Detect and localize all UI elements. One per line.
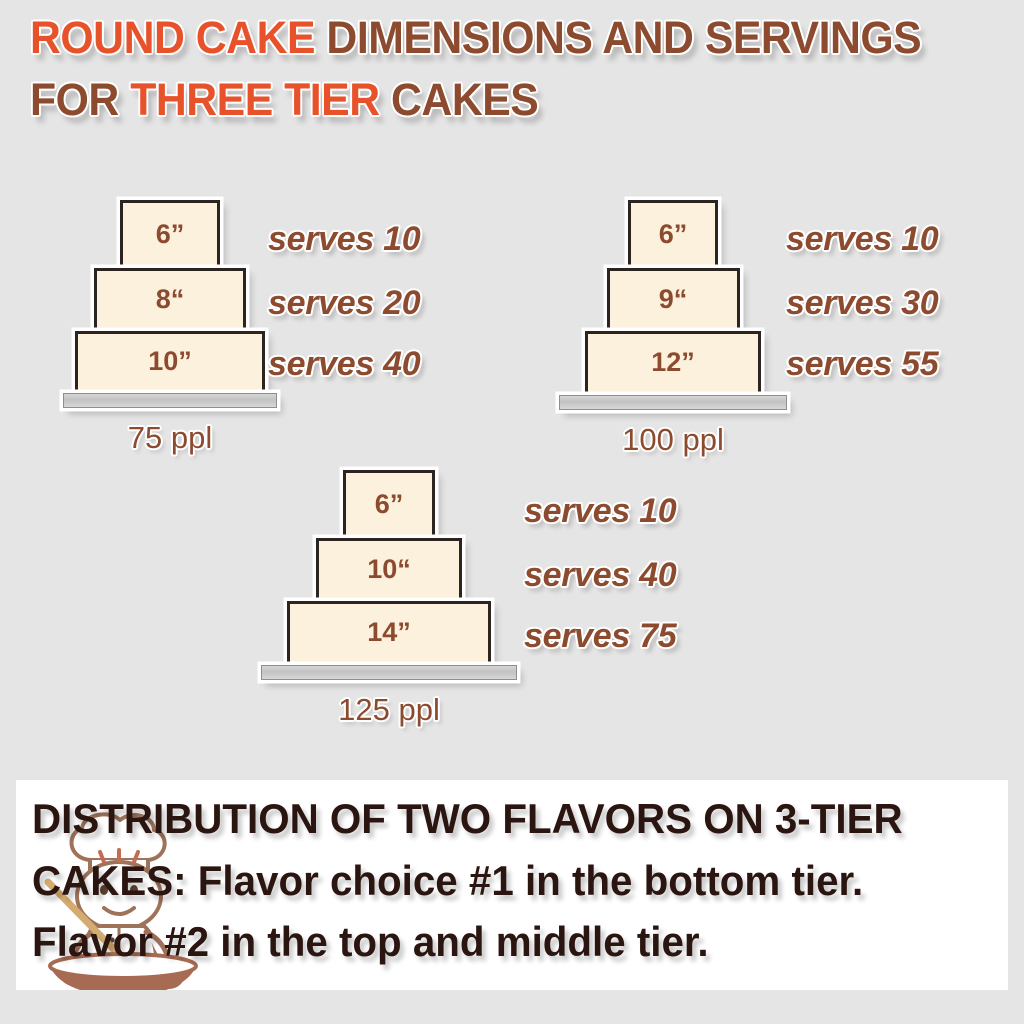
title-line-2: FOR THREE TIER CAKES (30, 74, 961, 126)
cake-diagram-100: 6” 9“ 12” 100 ppl (558, 200, 788, 458)
serves-column-75: serves 10 serves 20 serves 40 (268, 220, 420, 384)
cake-total-people-label: 125 ppl (261, 692, 517, 728)
page-title: ROUND CAKE DIMENSIONS AND SERVINGS FOR T… (30, 12, 1010, 126)
cake-tier-middle: 8“ (94, 268, 246, 333)
footer-note-text: DISTRIBUTION OF TWO FLAVORS ON 3-TIER CA… (32, 788, 973, 973)
title-line-1: ROUND CAKE DIMENSIONS AND SERVINGS (30, 12, 961, 64)
cake-tier-middle: 10“ (316, 538, 462, 603)
tier-size-label: 12” (651, 349, 695, 376)
tier-size-label: 14” (367, 619, 411, 646)
title-part-three-tier: THREE TIER (130, 74, 391, 125)
title-part-dimensions: DIMENSIONS AND SERVINGS (326, 12, 921, 63)
cake-stack-100: 6” 9“ 12” 100 ppl (558, 200, 788, 458)
serves-label-middle: serves 40 (524, 556, 676, 595)
serves-label-bottom: serves 75 (524, 617, 676, 656)
cake-base-plate (261, 665, 517, 680)
cake-stack-125: 6” 10“ 14” 125 ppl (258, 470, 520, 728)
serves-label-bottom: serves 55 (786, 345, 938, 384)
cake-tier-top: 6” (120, 200, 220, 270)
cake-diagram-75: 6” 8“ 10” 75 ppl (60, 200, 280, 456)
tier-size-label: 6” (156, 221, 185, 248)
title-part-for: FOR (30, 74, 130, 125)
serves-label-top: serves 10 (524, 492, 676, 531)
cake-base-plate (559, 395, 787, 410)
cake-total-people-label: 100 ppl (559, 422, 787, 458)
cake-tier-bottom: 10” (75, 331, 265, 394)
title-part-cakes: CAKES (391, 74, 538, 125)
cake-diagram-125: 6” 10“ 14” 125 ppl (258, 470, 520, 728)
cake-tier-top: 6” (343, 470, 435, 540)
tier-size-label: 8“ (156, 286, 185, 313)
serves-label-middle: serves 30 (786, 284, 938, 323)
serves-label-top: serves 10 (786, 220, 938, 259)
serves-column-100: serves 10 serves 30 serves 55 (786, 220, 938, 384)
cake-stack-75: 6” 8“ 10” 75 ppl (60, 200, 280, 456)
cake-base-plate (63, 393, 277, 408)
footer-note-panel: DISTRIBUTION OF TWO FLAVORS ON 3-TIER CA… (16, 780, 1008, 990)
tier-size-label: 9“ (659, 286, 688, 313)
cake-tier-top: 6” (628, 200, 718, 270)
tier-size-label: 10” (148, 348, 192, 375)
cake-tier-bottom: 12” (585, 331, 761, 396)
cake-tier-bottom: 14” (287, 601, 491, 666)
serves-column-125: serves 10 serves 40 serves 75 (524, 492, 676, 656)
cake-tier-middle: 9“ (607, 268, 740, 333)
tier-size-label: 6” (375, 491, 404, 518)
cake-total-people-label: 75 ppl (63, 420, 277, 456)
serves-label-middle: serves 20 (268, 284, 420, 323)
tier-size-label: 10“ (367, 556, 411, 583)
serves-label-bottom: serves 40 (268, 345, 420, 384)
serves-label-top: serves 10 (268, 220, 420, 259)
tier-size-label: 6” (659, 221, 688, 248)
title-part-round-cake: ROUND CAKE (30, 12, 326, 63)
